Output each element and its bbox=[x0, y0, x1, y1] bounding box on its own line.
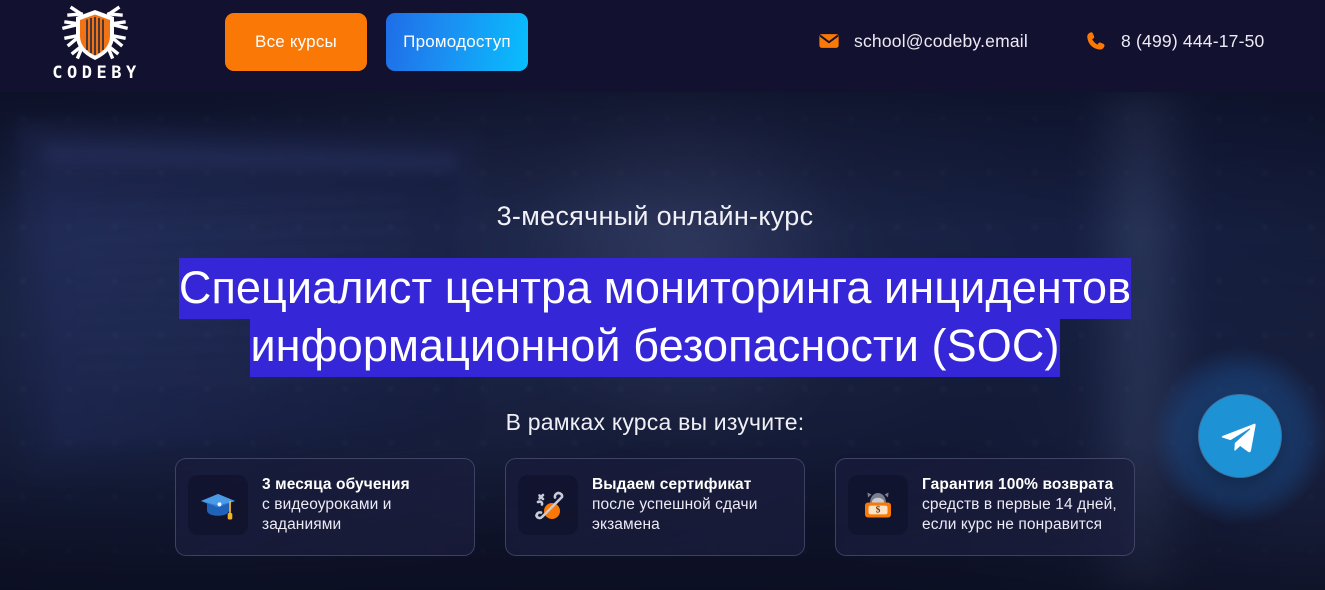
page-title-line-2: информационной безопасности (SOC) bbox=[250, 316, 1059, 377]
header-email-text: school@codeby.email bbox=[854, 31, 1028, 52]
hero-eyebrow: 3-месячный онлайн-курс bbox=[0, 201, 1310, 232]
feature-card-certificate: Выдаем сертификат после успешной сдачи э… bbox=[505, 458, 805, 556]
certificate-icon bbox=[528, 485, 568, 525]
feature-card-title: Выдаем сертификат bbox=[592, 475, 792, 494]
header-phone-link[interactable]: 8 (499) 444-17-50 bbox=[1085, 30, 1265, 52]
hero-subhead: В рамках курса вы изучите: bbox=[0, 409, 1310, 436]
feature-card-guarantee: $ Гарантия 100% возврата средств в первы… bbox=[835, 458, 1135, 556]
feature-card-desc: после успешной сдачи экзамена bbox=[592, 495, 792, 534]
logo-link[interactable]: CODEBY bbox=[42, 5, 147, 85]
site-header: CODEBY Все курсы Промодоступ school@code… bbox=[0, 0, 1325, 92]
hero-content: 3-месячный онлайн-курс Специалист центра… bbox=[0, 92, 1325, 590]
all-courses-button[interactable]: Все курсы bbox=[225, 13, 367, 71]
hero-section: 3-месячный онлайн-курс Специалист центра… bbox=[0, 92, 1325, 590]
feature-icon-wrap bbox=[518, 475, 578, 535]
header-phone-text: 8 (499) 444-17-50 bbox=[1121, 31, 1265, 52]
envelope-icon bbox=[818, 30, 840, 52]
logo-wordmark: CODEBY bbox=[48, 65, 140, 82]
telegram-float-button[interactable] bbox=[1151, 347, 1325, 525]
graduation-cap-icon bbox=[198, 485, 238, 525]
feature-card-body: 3 месяца обучения с видеоуроками и задан… bbox=[262, 471, 462, 534]
header-email-link[interactable]: school@codeby.email bbox=[818, 30, 1028, 52]
feature-cards: 3 месяца обучения с видеоуроками и задан… bbox=[175, 458, 1135, 556]
feature-card-body: Гарантия 100% возврата средств в первые … bbox=[922, 471, 1122, 534]
telegram-paper-plane-icon bbox=[1218, 417, 1258, 457]
svg-text:$: $ bbox=[876, 504, 881, 515]
feature-icon-wrap: $ bbox=[848, 475, 908, 535]
promo-access-button[interactable]: Промодоступ bbox=[386, 13, 528, 71]
feature-card-desc: с видеоуроками и заданиями bbox=[262, 495, 462, 534]
feature-card-duration: 3 месяца обучения с видеоуроками и задан… bbox=[175, 458, 475, 556]
feature-card-body: Выдаем сертификат после успешной сдачи э… bbox=[592, 471, 792, 534]
feature-icon-wrap bbox=[188, 475, 248, 535]
page-title: Специалист центра мониторинга инцидентов… bbox=[0, 259, 1310, 375]
page-root: CODEBY Все курсы Промодоступ school@code… bbox=[0, 0, 1325, 590]
spider-shield-logo-icon bbox=[58, 5, 132, 63]
feature-card-desc: средств в первые 14 дней, если курс не п… bbox=[922, 495, 1122, 534]
money-back-icon: $ bbox=[858, 485, 898, 525]
page-title-line-1: Специалист центра мониторинга инцидентов bbox=[179, 258, 1131, 319]
feature-card-title: 3 месяца обучения bbox=[262, 475, 462, 494]
feature-card-title: Гарантия 100% возврата bbox=[922, 475, 1122, 494]
telegram-button-circle[interactable] bbox=[1199, 395, 1281, 477]
phone-icon bbox=[1085, 30, 1107, 52]
